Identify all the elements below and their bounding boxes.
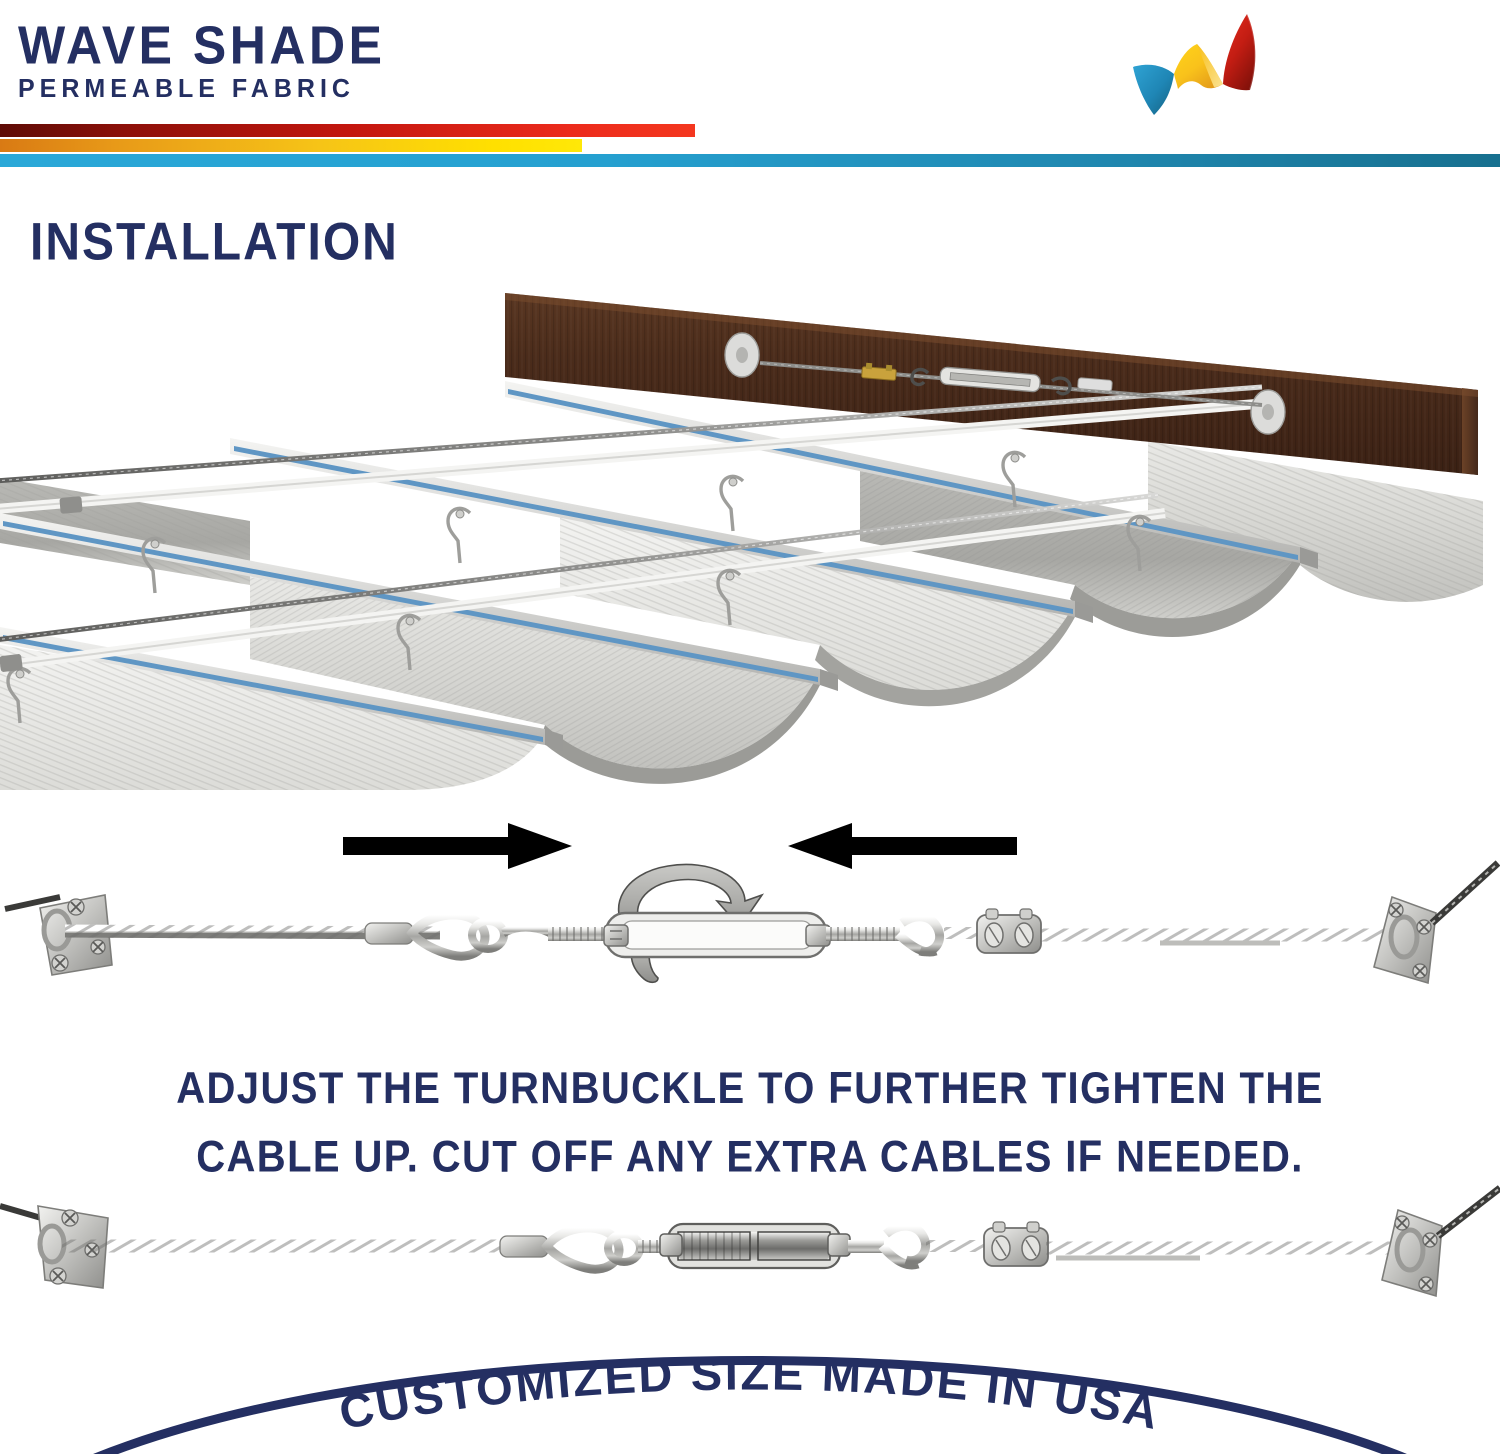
- cable-clamp: [944, 909, 1041, 953]
- instruction-text: ADJUST THE TURNBUCKLE TO FURTHER TIGHTEN…: [0, 1055, 1500, 1191]
- shade-canopy-assembly: [0, 293, 1483, 790]
- footer-arc-text: CUSTOMIZED SIZE MADE IN USA: [335, 1346, 1166, 1439]
- turnbuckle-body: [660, 1224, 850, 1268]
- hook: [898, 917, 940, 952]
- cable: [1040, 935, 1385, 943]
- end-mount-plate: [1374, 863, 1498, 983]
- tension-arrow-left: [788, 823, 1017, 869]
- carabiner-clip: [721, 476, 743, 531]
- brand-subtitle: PERMEABLE FABRIC: [18, 76, 385, 102]
- wall-mount-pad: [1251, 390, 1285, 434]
- cable-clamp: [926, 1222, 1048, 1266]
- accent-bar-red: [0, 124, 695, 137]
- instruction-line-2: CABLE UP. CUT OFF ANY EXTRA CABLES IF NE…: [0, 1123, 1500, 1191]
- assembled-cable-diagram: [0, 1188, 1500, 1333]
- instruction-line-1: ADJUST THE TURNBUCKLE TO FURTHER TIGHTEN…: [176, 1064, 1324, 1113]
- rail-end-cap: [59, 496, 82, 514]
- accent-bar-yellow: [0, 139, 582, 152]
- page-header: WAVE SHADE PERMEABLE FABRIC: [0, 0, 1500, 170]
- end-mount-plate: [1382, 1188, 1500, 1296]
- rail-end-cap: [0, 654, 23, 673]
- threaded-rod: [826, 927, 900, 941]
- brand-block: WAVE SHADE PERMEABLE FABRIC: [18, 18, 385, 101]
- tension-arrow-right: [343, 823, 572, 869]
- brand-title: WAVE SHADE: [18, 18, 385, 72]
- turnbuckle-body: [604, 913, 830, 957]
- wall-mount-pad: [725, 333, 759, 377]
- thimble-loop: [500, 1228, 640, 1269]
- page-title: INSTALLATION: [30, 212, 399, 273]
- turnbuckle-adjustment-diagram: [0, 815, 1500, 1025]
- wave-shade-logo-icon: [1128, 10, 1308, 140]
- footer-arc-banner: CUSTOMIZED SIZE MADE IN USA: [0, 1330, 1500, 1454]
- cable: [1046, 1248, 1400, 1258]
- accent-bar-blue: [0, 154, 1500, 167]
- hook: [848, 1226, 926, 1265]
- carabiner-clip: [448, 508, 470, 563]
- installation-illustration: [0, 285, 1500, 790]
